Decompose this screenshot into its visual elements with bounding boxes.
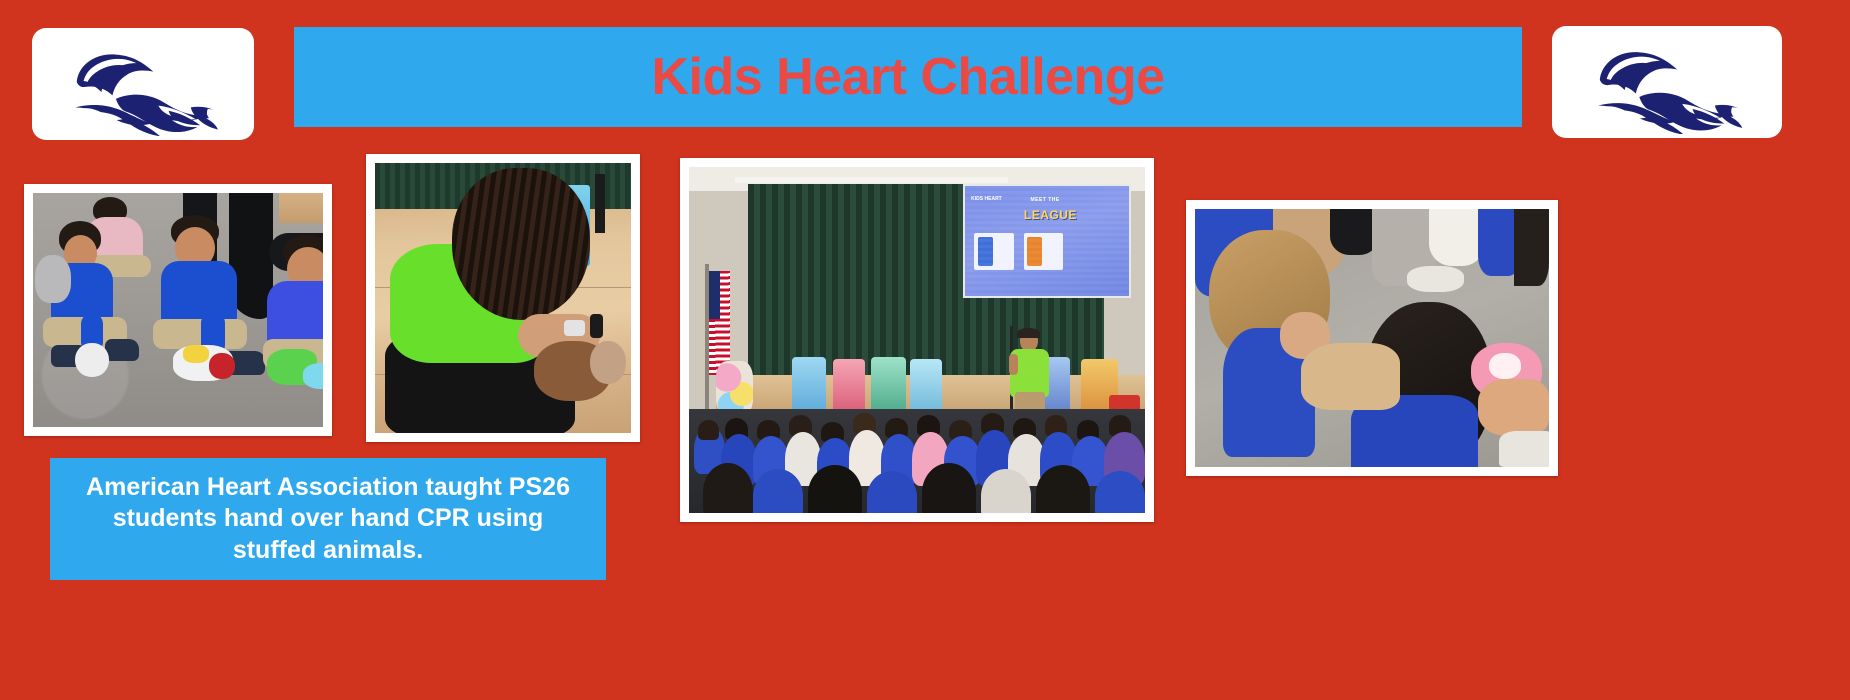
eagle-icon (41, 32, 245, 135)
school-eagle-logo-left (32, 28, 254, 140)
photo-students-closeup (1186, 200, 1558, 476)
screen-line1: MEET THE (1030, 197, 1059, 203)
title-banner: Kids Heart Challenge (294, 27, 1522, 127)
photo-instructor-demo (366, 154, 640, 442)
screen-line2: LEAGUE (1024, 208, 1077, 222)
school-eagle-logo-right (1552, 26, 1782, 138)
photo-assembly: KIDS HEART MEET THE LEAGUE (680, 158, 1154, 522)
caption-box: American Heart Association taught PS26 s… (50, 458, 606, 580)
poster-canvas: Kids Heart Challenge (0, 0, 1850, 700)
photo-students-cpr (24, 184, 332, 436)
eagle-icon (1561, 30, 1773, 133)
projection-screen: KIDS HEART MEET THE LEAGUE (963, 184, 1132, 298)
page-title: Kids Heart Challenge (651, 51, 1164, 103)
screen-brand: KIDS HEART (971, 197, 1002, 203)
caption-text: American Heart Association taught PS26 s… (76, 472, 580, 566)
american-flag (707, 271, 730, 375)
audience (689, 409, 1145, 513)
